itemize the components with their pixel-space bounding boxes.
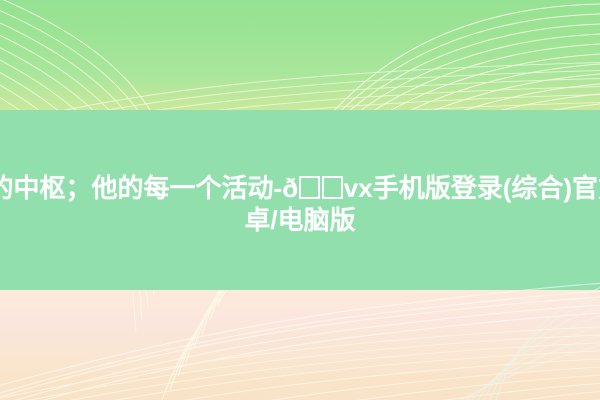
banner-headline: 欧洲杯体育直指问题的中枢；他的每一个活动-ðvx手机版登录(综合)官方网站入口/… <box>0 172 600 236</box>
headline-line1-prefix: 欧洲杯体育直指问题的中枢；他的每一个活动- <box>0 173 282 203</box>
decorative-banner: 欧洲杯体育直指问题的中枢；他的每一个活动-ðvx手机版登录(综合)官方网站入口/… <box>0 0 600 400</box>
tofu-box-icon <box>299 176 319 199</box>
mojibake-emoji-glyph: ð <box>282 173 298 203</box>
tofu-box-icon <box>322 176 342 199</box>
